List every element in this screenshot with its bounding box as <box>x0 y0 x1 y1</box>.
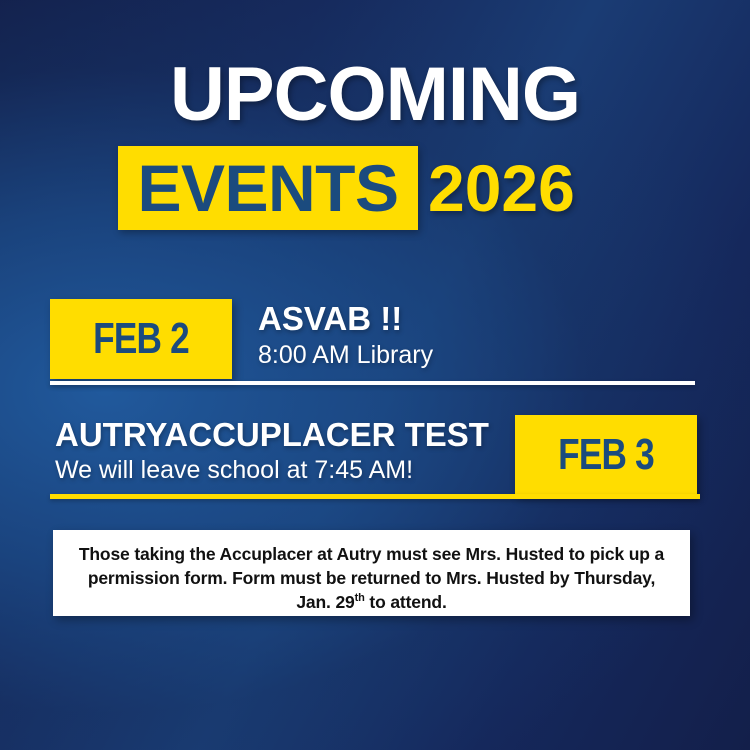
notice-text-part2: to attend. <box>365 592 447 612</box>
event-divider-rule-2 <box>50 494 700 499</box>
event-title-asvab: ASVAB !! <box>258 300 402 338</box>
page-title: UPCOMING <box>0 56 750 134</box>
subtitle-row: EVENTS 2026 <box>0 146 750 232</box>
event-divider-rule-1 <box>50 381 695 385</box>
event-badge-label: FEB 3 <box>533 415 679 495</box>
title-block: UPCOMING EVENTS 2026 <box>0 56 750 232</box>
subtitle-year: 2026 <box>428 146 575 230</box>
notice-ordinal-suffix: th <box>355 592 365 604</box>
flyer-poster: UPCOMING EVENTS 2026 FEB 2 ASVAB !! 8:00… <box>0 0 750 750</box>
event-detail-asvab: 8:00 AM Library <box>258 341 433 370</box>
subtitle-events: EVENTS <box>118 146 418 230</box>
event-title-accuplacer: AUTRYACCUPLACER TEST <box>55 416 489 454</box>
event-badge-label: FEB 2 <box>68 299 214 379</box>
event-detail-accuplacer: We will leave school at 7:45 AM! <box>55 456 413 485</box>
event-badge-feb-2: FEB 2 <box>50 299 232 379</box>
notice-text: Those taking the Accuplacer at Autry mus… <box>71 542 672 614</box>
event-badge-feb-3: FEB 3 <box>515 415 697 495</box>
notice-box: Those taking the Accuplacer at Autry mus… <box>53 530 690 616</box>
